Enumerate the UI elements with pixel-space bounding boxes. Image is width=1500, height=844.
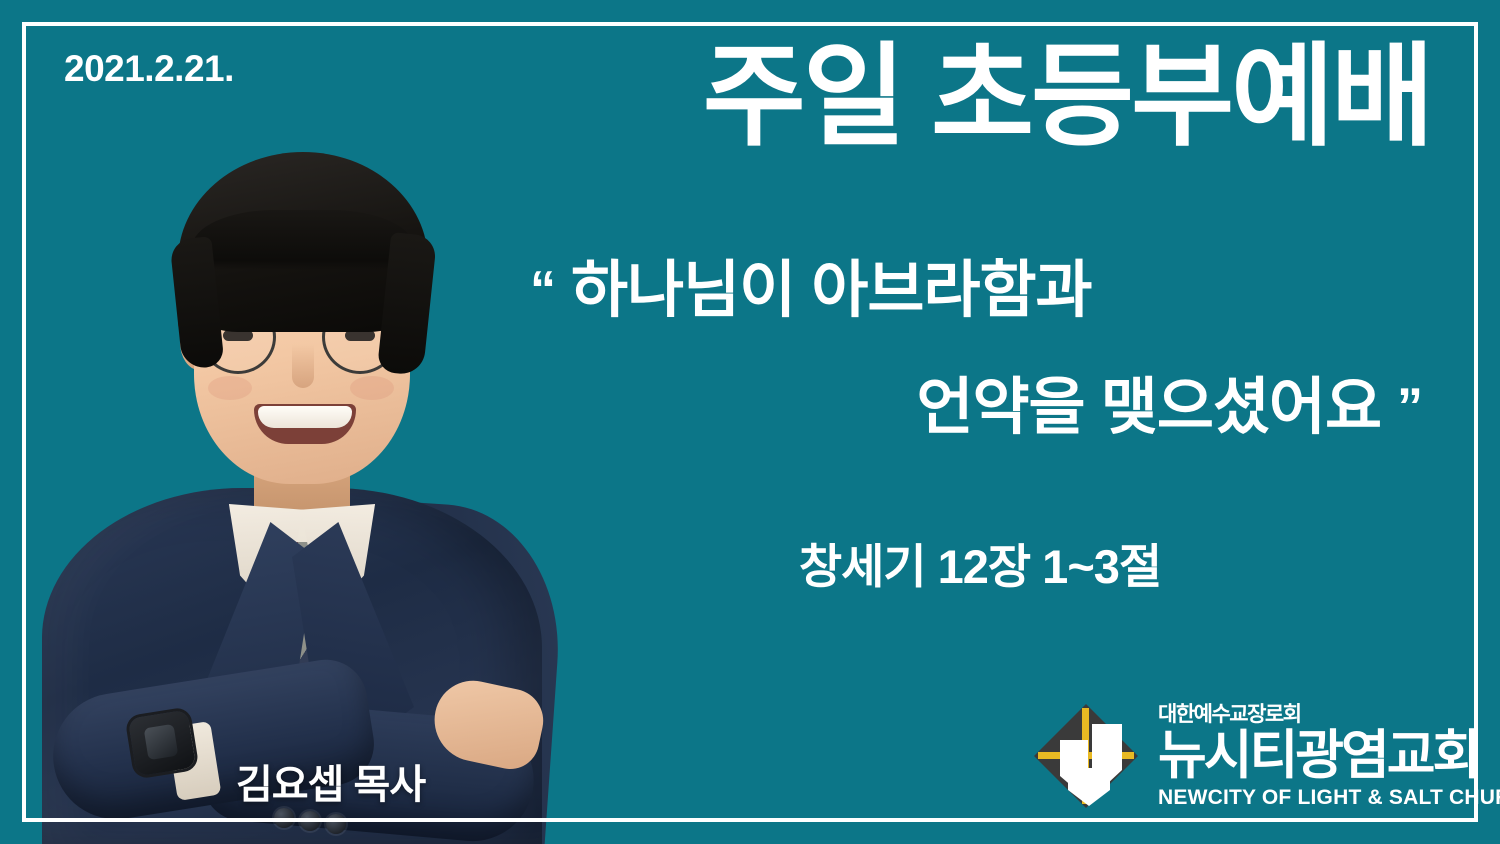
hair-fringe	[192, 210, 414, 270]
speaker-portrait	[36, 118, 556, 844]
open-quote-mark: “	[530, 261, 555, 319]
sermon-date: 2021.2.21.	[64, 48, 234, 90]
church-logo-text: 대한예수교장로회 뉴시티광염교회 NEWCITY OF LIGHT & SALT…	[1158, 704, 1500, 808]
cheek-right	[350, 376, 394, 400]
suit-button	[326, 814, 346, 834]
suit-buttons	[274, 808, 364, 832]
logo-church-name-ko: 뉴시티광염교회	[1158, 729, 1478, 783]
quote-line-2: 언약을 맺으셨어요”	[520, 375, 1440, 440]
close-quote-mark: ”	[1397, 378, 1422, 436]
suit-button	[274, 808, 294, 828]
sermon-quote: “하나님이 아브라함과 언약을 맺으셨어요”	[520, 258, 1440, 440]
teeth	[258, 406, 352, 428]
quote-line-1-text: 하나님이 아브라함과	[571, 256, 1092, 325]
church-emblem-icon	[1030, 700, 1142, 812]
page-title: 주일 초등부예배	[672, 38, 1462, 156]
cheek-left	[208, 376, 252, 400]
speaker-name: 김요셉 목사	[236, 752, 425, 810]
logo-denomination: 대한예수교장로회	[1158, 704, 1301, 725]
scripture-reference: 창세기 12장 1~3절	[520, 528, 1440, 597]
suit-button	[300, 811, 320, 831]
wristwatch-face	[144, 724, 179, 760]
smiling-mouth	[254, 404, 356, 444]
sermon-title-card: 2021.2.21. 주일 초등부예배 “하나님이 아브라함과 언약을 맺으셨어…	[0, 0, 1500, 844]
church-logo: 대한예수교장로회 뉴시티광염교회 NEWCITY OF LIGHT & SALT…	[1030, 694, 1480, 818]
logo-church-name-en: NEWCITY OF LIGHT & SALT CHURCH	[1158, 787, 1500, 808]
quote-line-2-text: 언약을 맺으셨어요	[916, 373, 1381, 442]
nose	[292, 344, 314, 388]
quote-line-1: “하나님이 아브라함과	[520, 258, 1440, 323]
